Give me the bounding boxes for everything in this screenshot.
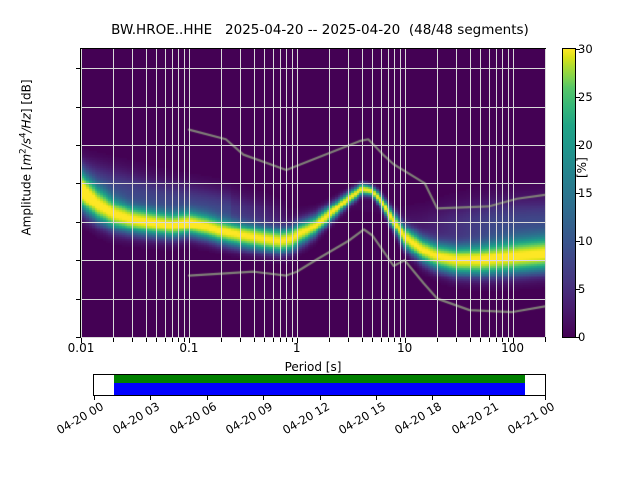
colorbar-tick-mark <box>576 289 580 290</box>
colorbar-tick-mark <box>576 97 580 98</box>
gridline-vertical <box>273 49 274 337</box>
timeline-tick-label: 04-20 12 <box>280 402 327 437</box>
x-tick-mark <box>545 338 546 342</box>
gridline-vertical <box>470 49 471 337</box>
y-axis-label: Amplitude [m2/s4/Hz] [dB] <box>19 13 34 303</box>
y-tick-mark <box>76 260 80 261</box>
x-tick-mark <box>329 338 330 342</box>
data-coverage-bar <box>114 375 524 383</box>
gridline-vertical <box>388 49 389 337</box>
colorbar-tick-mark <box>576 49 580 50</box>
x-tick-mark <box>480 338 481 342</box>
timeline-tick-mark <box>545 396 546 400</box>
gridline-vertical <box>489 49 490 337</box>
gridline-vertical <box>480 49 481 337</box>
gridline-vertical <box>508 49 509 337</box>
timeline-tick-label: 04-20 00 <box>54 402 101 437</box>
gridline-vertical <box>545 49 546 337</box>
x-tick-mark <box>496 338 497 342</box>
x-tick-mark <box>286 338 287 342</box>
timeline-tick-label: 04-20 09 <box>223 402 270 437</box>
y-tick-mark <box>76 299 80 300</box>
timeline-tick-label: 04-20 03 <box>111 402 158 437</box>
colorbar-tick-label: 25 <box>578 90 593 104</box>
y-tick-mark <box>76 68 80 69</box>
gridline-vertical <box>189 49 190 337</box>
x-tick-mark <box>146 338 147 342</box>
timeline-tick-label: 04-20 18 <box>392 402 439 437</box>
timeline-tick-mark <box>432 396 433 400</box>
gridline-vertical <box>264 49 265 337</box>
gridline-horizontal <box>81 107 545 108</box>
psd-coverage-bar <box>114 383 524 395</box>
x-tick-label: 0.01 <box>68 341 95 355</box>
timeline-tick-mark <box>207 396 208 400</box>
y-tick-mark <box>76 337 80 338</box>
gridline-vertical <box>405 49 406 337</box>
y-tick-mark <box>76 222 80 223</box>
gridline-vertical <box>172 49 173 337</box>
x-tick-mark <box>132 338 133 342</box>
colorbar-tick-mark <box>576 193 580 194</box>
x-tick-mark <box>172 338 173 342</box>
x-tick-mark <box>381 338 382 342</box>
colorbar <box>562 48 576 338</box>
x-tick-mark <box>470 338 471 342</box>
gridline-vertical <box>286 49 287 337</box>
gridline-vertical <box>240 49 241 337</box>
gridline-vertical <box>394 49 395 337</box>
y-axis-label-text: Amplitude [m2/s4/Hz] [dB] <box>20 79 34 235</box>
gridline-vertical <box>297 49 298 337</box>
gridline-vertical <box>221 49 222 337</box>
colorbar-tick-label: 10 <box>578 234 593 248</box>
coverage-timeline-inner <box>94 375 545 395</box>
x-tick-label: 1 <box>293 341 301 355</box>
gridline-vertical <box>146 49 147 337</box>
gridline-vertical <box>165 49 166 337</box>
x-tick-mark <box>264 338 265 342</box>
gridline-horizontal <box>81 337 545 338</box>
x-tick-mark <box>456 338 457 342</box>
gridline-vertical <box>348 49 349 337</box>
gridline-vertical <box>81 49 82 337</box>
colorbar-label: [%] <box>575 118 589 178</box>
gridline-vertical <box>329 49 330 337</box>
timeline-tick-mark <box>94 396 95 400</box>
ppsd-histogram-canvas <box>81 49 545 337</box>
timeline-tick-mark <box>320 396 321 400</box>
gridline-vertical <box>502 49 503 337</box>
gridline-vertical <box>381 49 382 337</box>
x-axis-label: Period [s] <box>80 360 546 374</box>
x-tick-mark <box>273 338 274 342</box>
x-tick-mark <box>394 338 395 342</box>
ppsd-axes <box>80 48 546 338</box>
x-tick-mark <box>348 338 349 342</box>
x-tick-mark <box>221 338 222 342</box>
timeline-tick-mark <box>263 396 264 400</box>
timeline-tick-mark <box>489 396 490 400</box>
gridline-vertical <box>292 49 293 337</box>
gridline-horizontal <box>81 299 545 300</box>
timeline-tick-mark <box>376 396 377 400</box>
timeline-tick-label: 04-20 15 <box>336 402 383 437</box>
x-tick-label: 100 <box>501 341 524 355</box>
gridline-horizontal <box>81 183 545 184</box>
gridline-vertical <box>132 49 133 337</box>
y-tick-mark <box>76 107 80 108</box>
gridline-horizontal <box>81 260 545 261</box>
x-tick-mark <box>280 338 281 342</box>
colorbar-tick-label: 15 <box>578 186 593 200</box>
gridline-vertical <box>513 49 514 337</box>
x-tick-mark <box>489 338 490 342</box>
x-tick-label: 10 <box>397 341 412 355</box>
x-tick-mark <box>254 338 255 342</box>
gridline-vertical <box>280 49 281 337</box>
gridline-vertical <box>437 49 438 337</box>
ppsd-plot-area <box>81 49 545 337</box>
coverage-timeline[interactable] <box>93 374 546 396</box>
colorbar-tick-mark <box>576 337 580 338</box>
gridline-vertical <box>113 49 114 337</box>
gridline-horizontal <box>81 145 545 146</box>
gridline-vertical <box>184 49 185 337</box>
x-tick-mark <box>165 338 166 342</box>
x-tick-mark <box>437 338 438 342</box>
timeline-tick-label: 04-20 21 <box>449 402 496 437</box>
gridline-vertical <box>254 49 255 337</box>
colorbar-tick-label: 30 <box>578 42 593 56</box>
x-tick-mark <box>372 338 373 342</box>
x-tick-mark <box>362 338 363 342</box>
gridline-vertical <box>372 49 373 337</box>
gridline-vertical <box>400 49 401 337</box>
x-tick-label: 0.1 <box>179 341 198 355</box>
timeline-tick-label: 04-20 06 <box>167 402 214 437</box>
gridline-horizontal <box>81 68 545 69</box>
x-tick-mark <box>240 338 241 342</box>
y-tick-mark <box>76 145 80 146</box>
gridline-vertical <box>362 49 363 337</box>
x-tick-mark <box>156 338 157 342</box>
timeline-tick-mark <box>150 396 151 400</box>
gridline-horizontal <box>81 222 545 223</box>
x-tick-mark <box>388 338 389 342</box>
page-title: BW.HROE..HHE 2025-04-20 -- 2025-04-20 (4… <box>0 22 640 38</box>
gridline-vertical <box>496 49 497 337</box>
gridline-vertical <box>456 49 457 337</box>
colorbar-tick-mark <box>576 241 580 242</box>
y-tick-mark <box>76 183 80 184</box>
timeline-tick-label: 04-21 00 <box>505 402 552 437</box>
gridline-vertical <box>156 49 157 337</box>
gridline-vertical <box>178 49 179 337</box>
x-tick-mark <box>113 338 114 342</box>
